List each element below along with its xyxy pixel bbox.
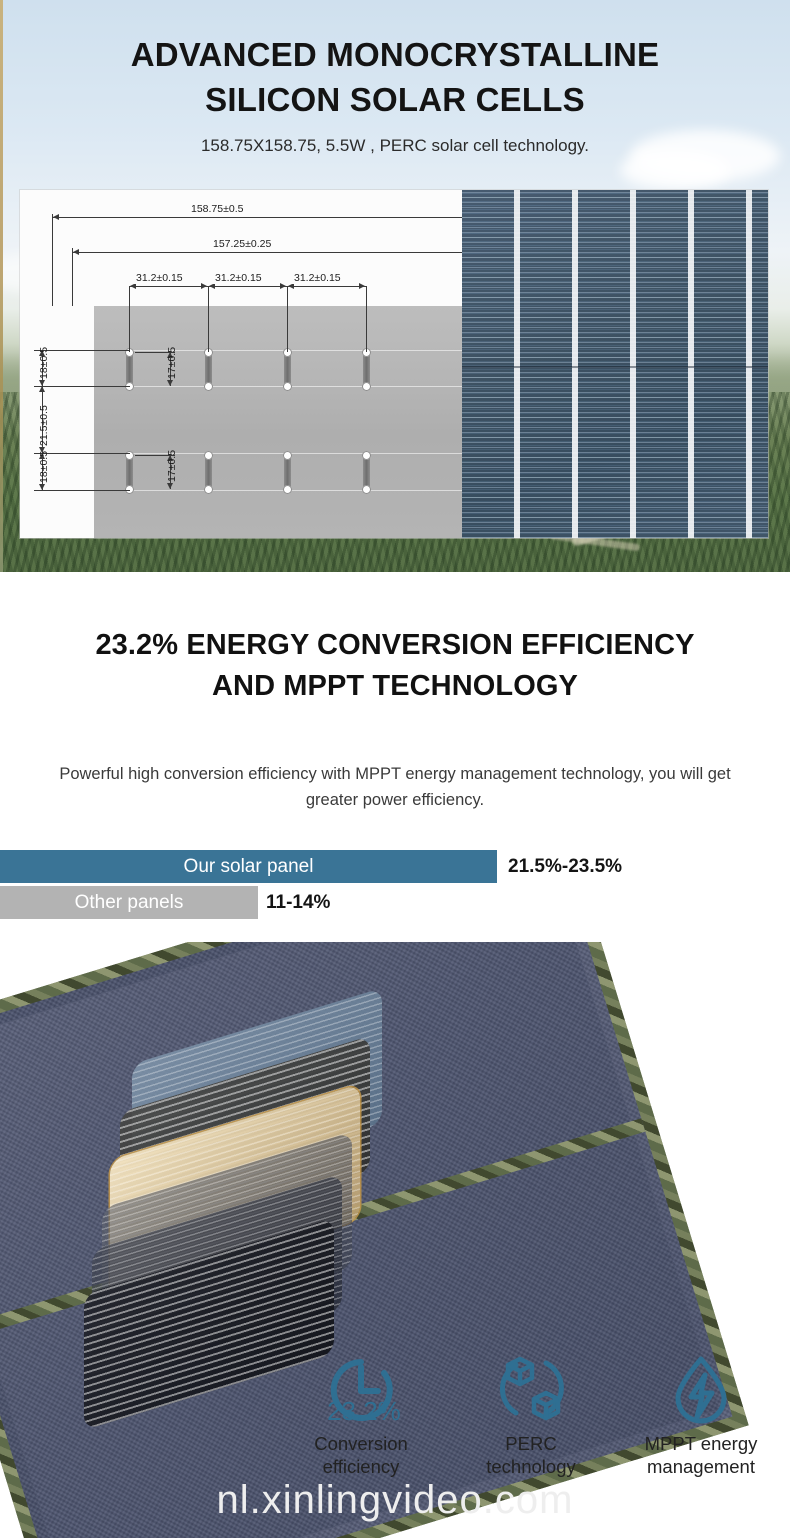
efficiency-comparison-chart: Our solar panel 21.5%-23.5% Other panels… (0, 850, 790, 922)
dim-arrow (280, 283, 286, 289)
dim-arrow (359, 283, 365, 289)
feature-conversion-efficiency: 23.2% Conversion efficiency (276, 1348, 446, 1498)
product-infographic-page: ADVANCED MONOCRYSTALLINE SILICON SOLAR C… (0, 0, 790, 1538)
busbar-node (283, 382, 292, 391)
wafer-guide-line (94, 350, 462, 351)
bar-value-our-solar-panel: 21.5%-23.5% (508, 850, 622, 883)
dim-label-pitch-3: 31.2±0.15 (291, 272, 344, 284)
cubes-cycle-icon (446, 1348, 616, 1432)
busbar-node (362, 451, 371, 460)
dim-line-total-width (52, 217, 462, 218)
busbar-pad (205, 352, 212, 386)
feature-label-line1: MPPT energy (616, 1432, 786, 1455)
busbar-node (204, 451, 213, 460)
cell-seam-line (462, 366, 768, 368)
dim-extension-line (52, 214, 53, 306)
section2-title: 23.2% ENERGY CONVERSION EFFICIENCY AND M… (0, 625, 790, 706)
busbar-pad (363, 455, 370, 489)
cloud-shape (620, 150, 730, 190)
dim-label-pitch-2: 31.2±0.15 (212, 272, 265, 284)
conversion-efficiency-value: 23.2% (327, 1396, 401, 1427)
technical-drawing-panel: 158.75±0.5 157.25±0.25 31.2±0.15 31.2±0.… (20, 190, 768, 538)
hero-section: ADVANCED MONOCRYSTALLINE SILICON SOLAR C… (0, 0, 790, 572)
feature-label-conversion-efficiency: Conversion efficiency (276, 1432, 446, 1478)
cubes-cycle-icon-svg (492, 1351, 570, 1429)
chart-row-our-panel: Our solar panel 21.5%-23.5% (0, 850, 790, 883)
efficiency-section: 23.2% ENERGY CONVERSION EFFICIENCY AND M… (0, 572, 790, 942)
bar-our-solar-panel: Our solar panel (0, 850, 497, 883)
wafer-guide-line (94, 386, 462, 387)
feature-perc-technology: PERC technology (446, 1348, 616, 1498)
hero-subtitle: 158.75X158.75, 5.5W , PERC solar cell te… (0, 136, 790, 156)
feature-label-perc-technology: PERC technology (446, 1432, 616, 1478)
feature-label-line2: efficiency (276, 1455, 446, 1478)
chart-row-other-panels: Other panels 11-14% (0, 886, 790, 919)
bar-label-our-solar-panel: Our solar panel (184, 856, 314, 878)
section2-title-line1: 23.2% ENERGY CONVERSION EFFICIENCY (0, 625, 790, 666)
bar-other-panels: Other panels (0, 886, 258, 919)
busbar-pad (284, 455, 291, 489)
busbar-node (204, 382, 213, 391)
section2-title-line2: AND MPPT TECHNOLOGY (0, 666, 790, 707)
feature-row: 23.2% Conversion efficiency (276, 1348, 786, 1498)
dim-label-edge-top: 18±0.5 (38, 344, 50, 382)
busbar-node (283, 485, 292, 494)
solar-cell-photo (462, 190, 768, 538)
dim-extension-line (129, 286, 130, 352)
busbar-pad (363, 352, 370, 386)
dim-arrow (39, 386, 45, 392)
feature-mppt-energy-management: MPPT energy management (616, 1348, 786, 1498)
hero-title-line1: ADVANCED MONOCRYSTALLINE (0, 33, 790, 78)
wafer-body (94, 306, 462, 538)
feature-label-line1: PERC (446, 1432, 616, 1455)
busbar-node (283, 451, 292, 460)
busbar-pad (126, 352, 133, 386)
droplet-bolt-icon (616, 1348, 786, 1432)
dim-extension-line (72, 248, 73, 306)
dim-extension-line (366, 286, 367, 352)
dim-arrow (201, 283, 207, 289)
dim-line-pitch (287, 286, 366, 287)
dim-label-inner-width: 157.25±0.25 (210, 238, 274, 250)
dim-label-pad-top: 17±0.5 (166, 344, 178, 382)
feature-label-line1: Conversion (276, 1432, 446, 1455)
dim-label-edge-bottom: 18±0.5 (38, 448, 50, 486)
busbar-node (204, 485, 213, 494)
site-watermark: nl.xinlingvideo.com (0, 1478, 790, 1523)
bar-label-other-panels: Other panels (75, 892, 184, 914)
dim-label-pad-bottom: 17±0.5 (166, 447, 178, 485)
dim-arrow (53, 214, 59, 220)
dim-line-pitch (208, 286, 287, 287)
busbar-node (362, 485, 371, 494)
droplet-bolt-icon-svg (662, 1351, 740, 1429)
dim-extension-line (34, 490, 130, 491)
feature-label-line2: management (616, 1455, 786, 1478)
busbar-pad (284, 352, 291, 386)
section2-description: Powerful high conversion efficiency with… (55, 762, 735, 813)
dim-extension-line (287, 286, 288, 352)
bar-value-other-panels: 11-14% (266, 886, 330, 919)
dim-extension-line (208, 286, 209, 352)
busbar-pad (126, 455, 133, 489)
cell-dimension-drawing: 158.75±0.5 157.25±0.25 31.2±0.15 31.2±0.… (20, 190, 462, 538)
wafer-guide-line (94, 453, 462, 454)
dim-arrow (73, 249, 79, 255)
hero-title: ADVANCED MONOCRYSTALLINE SILICON SOLAR C… (0, 33, 790, 122)
busbar-node (362, 382, 371, 391)
solar-cell-texture (462, 190, 768, 538)
dim-label-total-width: 158.75±0.5 (188, 203, 246, 215)
hero-title-line2: SILICON SOLAR CELLS (0, 78, 790, 123)
wafer-guide-line (94, 490, 462, 491)
feature-label-line2: technology (446, 1455, 616, 1478)
dim-line-pitch (129, 286, 208, 287)
dim-label-middle: 21.5±0.5 (38, 402, 50, 449)
dim-extension-line (34, 386, 130, 387)
dim-label-pitch-1: 31.2±0.15 (133, 272, 186, 284)
busbar-pad (205, 455, 212, 489)
dim-line-inner-width (72, 252, 462, 253)
feature-label-mppt: MPPT energy management (616, 1432, 786, 1478)
